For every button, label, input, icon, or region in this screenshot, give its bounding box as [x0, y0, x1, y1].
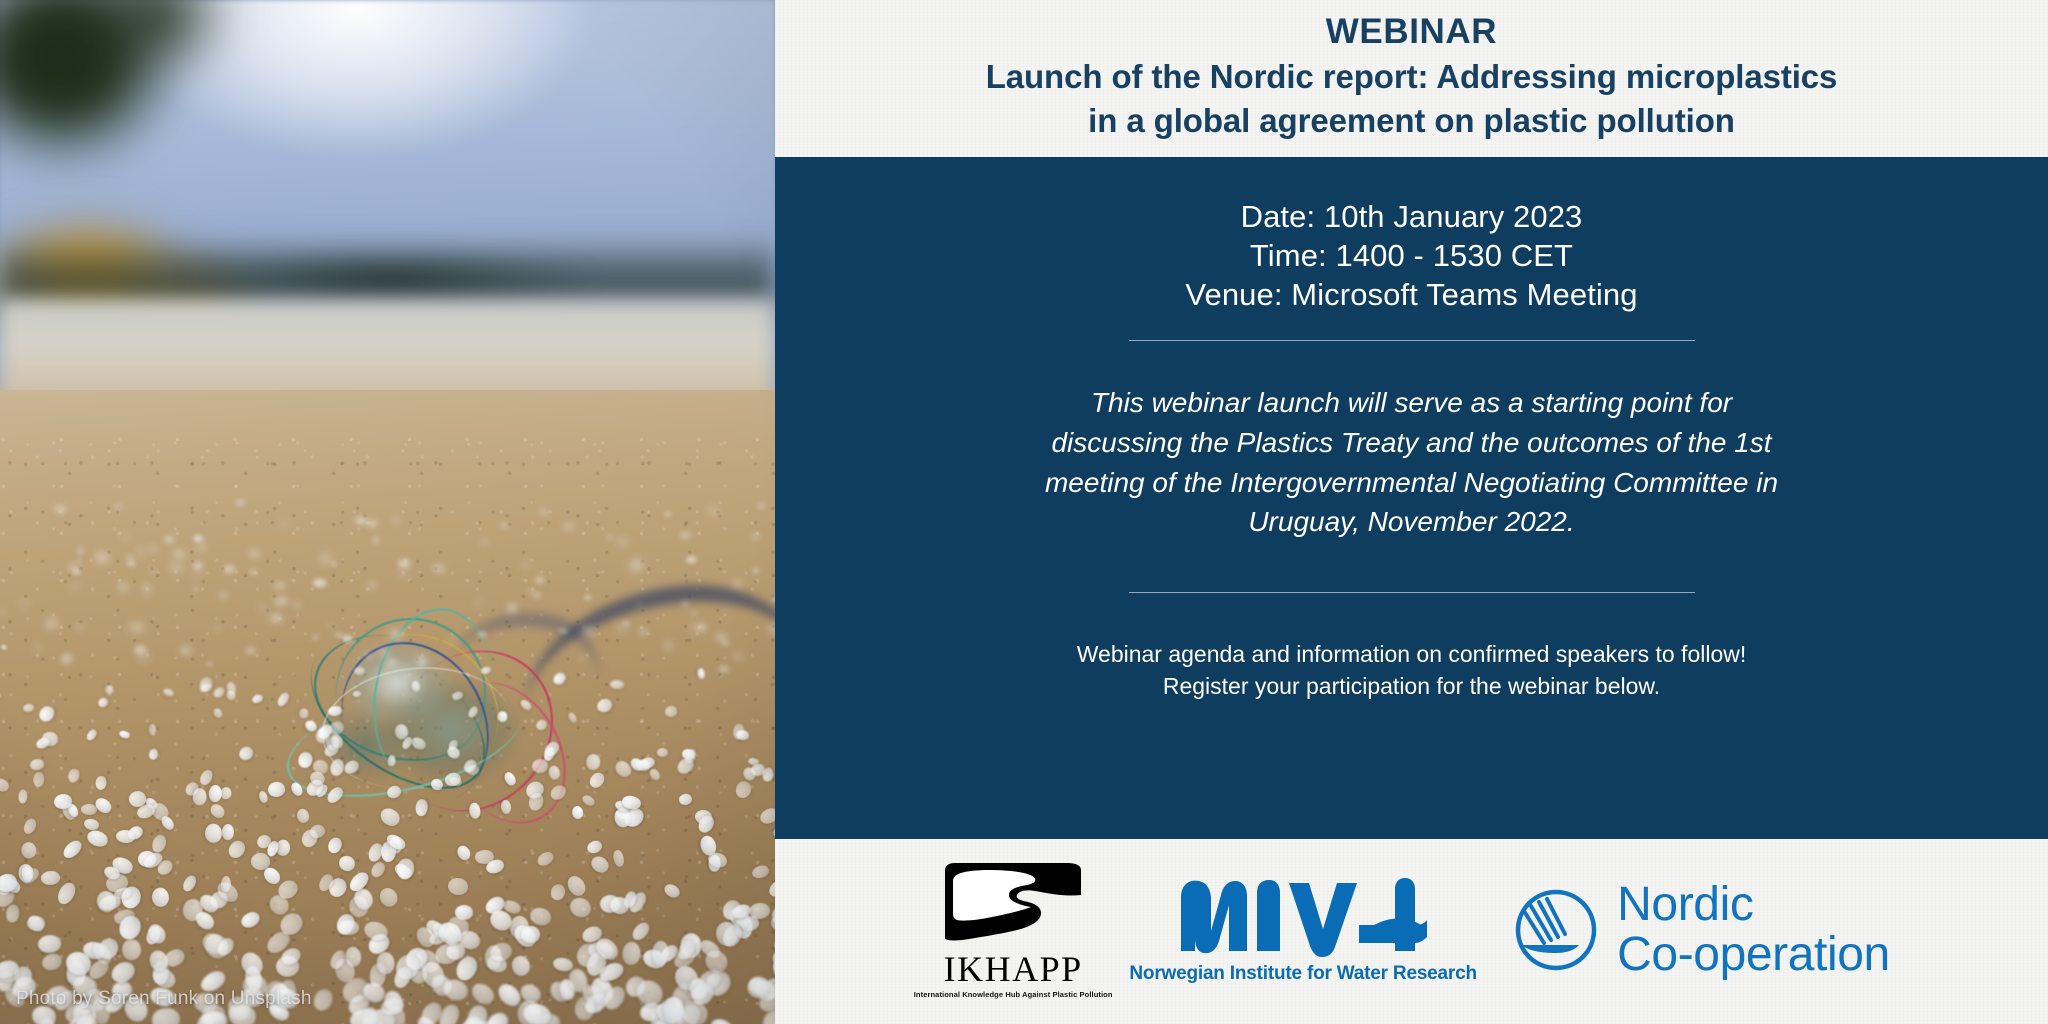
- microplastic-pellet: [326, 836, 343, 855]
- microplastic-pellet-distant: [772, 597, 775, 601]
- microplastic-pellet: [610, 680, 624, 690]
- microplastic-pellet: [451, 690, 464, 701]
- microplastic-pellet-distant: [366, 654, 372, 658]
- header-block: WEBINAR Launch of the Nordic report: Add…: [775, 0, 2048, 157]
- microplastic-pellet-distant: [769, 625, 775, 632]
- microplastic-pellet-distant: [398, 559, 412, 568]
- microplastic-pellet-distant: [617, 538, 629, 546]
- microplastic-pellet-distant: [223, 565, 237, 575]
- microplastic-pellet-distant: [76, 625, 83, 630]
- microplastic-pellet-distant: [708, 507, 721, 516]
- microplastic-pellet: [622, 942, 641, 965]
- microplastic-pellet: [33, 772, 44, 787]
- microplastic-pellet-distant: [249, 550, 261, 558]
- ikhapp-tagline: International Knowledge Hub Against Plas…: [914, 990, 1113, 999]
- microplastic-pellet: [580, 793, 596, 807]
- microplastic-pellet: [377, 805, 402, 829]
- microplastic-pellet: [120, 937, 144, 962]
- microplastic-pellet: [548, 782, 569, 802]
- microplastic-pellet-distant: [682, 602, 689, 607]
- microplastic-pellet: [469, 980, 499, 1008]
- microplastic-pellet-distant: [630, 560, 644, 570]
- microplastic-pellet: [630, 920, 652, 943]
- ikhapp-wave-mark: [939, 861, 1087, 947]
- footnote-block: Webinar agenda and information on confir…: [1077, 639, 1747, 702]
- microplastic-pellet: [207, 802, 226, 821]
- microplastic-pellet-distant: [639, 630, 647, 635]
- hero-photo: Photo by Sören Funk on Unsplash: [0, 0, 775, 1024]
- microplastic-pellet-distant: [564, 524, 573, 530]
- microplastic-pellet: [657, 747, 669, 757]
- microplastic-pellet-distant: [719, 666, 729, 673]
- microplastic-pellet: [55, 879, 78, 906]
- microplastic-pellet-distant: [450, 639, 457, 644]
- microplastic-pellet: [29, 757, 46, 771]
- microplastic-pellet: [295, 807, 312, 825]
- microplastic-pellet: [18, 790, 27, 804]
- microplastic-pellet: [534, 717, 549, 731]
- microplastic-pellet-distant: [432, 564, 446, 574]
- microplastic-pellet-distant: [55, 506, 66, 514]
- microplastic-pellet-distant: [328, 624, 335, 629]
- microplastic-pellet-distant: [21, 601, 28, 606]
- microplastic-pellet-distant: [193, 571, 200, 576]
- microplastic-pellet: [211, 685, 226, 700]
- microplastic-pellet-distant: [60, 656, 73, 665]
- microplastic-pellet: [611, 849, 625, 868]
- photo-artwork: [0, 0, 775, 1024]
- microplastic-pellet-distant: [752, 534, 761, 540]
- microplastic-pellet-distant: [150, 569, 156, 573]
- microplastic-pellet-distant: [665, 512, 671, 517]
- microplastic-pellet: [192, 787, 207, 805]
- microplastic-pellet: [751, 863, 771, 880]
- microplastic-pellet: [735, 779, 753, 799]
- microplastic-pellet-distant: [137, 652, 148, 660]
- microplastic-pellet-distant: [126, 556, 133, 561]
- microplastic-pellet: [95, 776, 106, 791]
- microplastic-pellet-distant: [733, 581, 742, 587]
- microplastic-pellet-distant: [250, 570, 257, 575]
- microplastic-pellet: [266, 780, 287, 799]
- detail-date: Date: 10th January 2023: [1185, 197, 1637, 236]
- microplastic-pellet-distant: [522, 563, 529, 568]
- photo-nurdle-field: [0, 0, 775, 1024]
- microplastic-pellet: [237, 744, 256, 763]
- microplastic-pellet: [0, 690, 2, 699]
- microplastic-pellet: [410, 679, 421, 692]
- microplastic-pellet: [708, 1015, 737, 1024]
- microplastic-pellet: [327, 704, 343, 717]
- microplastic-pellet-distant: [477, 631, 487, 638]
- microplastic-pellet: [647, 767, 661, 782]
- microplastic-pellet: [181, 873, 198, 893]
- footnote-line-1: Webinar agenda and information on confir…: [1077, 639, 1747, 671]
- microplastic-pellet: [376, 950, 397, 974]
- microplastic-pellet-distant: [372, 538, 380, 544]
- microplastic-pellet-distant: [416, 657, 428, 666]
- microplastic-pellet: [289, 780, 305, 797]
- microplastic-pellet: [567, 711, 579, 724]
- microplastic-pellet: [203, 822, 223, 844]
- microplastic-pellet-distant: [164, 536, 175, 544]
- partner-logo-strip: IKHAPP International Knowledge Hub Again…: [775, 839, 2048, 1024]
- microplastic-pellet: [441, 977, 470, 1002]
- microplastic-pellet-distant: [539, 509, 549, 516]
- microplastic-pellet: [150, 886, 171, 909]
- microplastic-pellet-distant: [127, 561, 136, 567]
- microplastic-pellet: [388, 755, 396, 767]
- microplastic-pellet: [468, 802, 482, 819]
- microplastic-pellet: [325, 784, 346, 806]
- microplastic-pellet-distant: [476, 601, 482, 605]
- microplastic-pellet: [497, 710, 509, 723]
- microplastic-pellet-distant: [180, 647, 191, 655]
- microplastic-pellet-distant: [68, 564, 80, 573]
- microplastic-pellet-distant: [274, 597, 288, 607]
- event-description: This webinar launch will serve as a star…: [1032, 383, 1792, 542]
- microplastic-pellet-distant: [312, 635, 319, 640]
- page-title-line-2: in a global agreement on plastic polluti…: [809, 100, 2014, 142]
- microplastic-pellet-distant: [171, 564, 182, 572]
- microplastic-pellet-distant: [259, 606, 266, 611]
- microplastic-pellet-distant: [121, 535, 129, 541]
- microplastic-pellet-distant: [691, 625, 701, 632]
- microplastic-pellet: [551, 670, 568, 687]
- microplastic-pellet-distant: [96, 553, 110, 562]
- microplastic-pellet: [508, 953, 532, 979]
- microplastic-pellet: [758, 805, 775, 827]
- microplastic-pellet: [568, 896, 593, 919]
- microplastic-pellet-distant: [378, 649, 390, 658]
- microplastic-pellet-distant: [313, 579, 327, 589]
- microplastic-pellet: [595, 696, 615, 715]
- microplastic-pellet: [25, 912, 47, 934]
- microplastic-pellet: [585, 753, 600, 770]
- microplastic-pellet: [549, 883, 566, 901]
- microplastic-pellet: [105, 684, 114, 695]
- webinar-announcement-poster: Photo by Sören Funk on Unsplash WEBINAR …: [0, 0, 2048, 1024]
- microplastic-pellet-distant: [293, 603, 300, 608]
- microplastic-pellet: [652, 941, 669, 966]
- microplastic-pellet-distant: [637, 604, 642, 608]
- microplastic-pellet: [443, 771, 462, 789]
- microplastic-pellet-distant: [236, 500, 245, 506]
- microplastic-pellet: [0, 644, 8, 650]
- microplastic-pellet-distant: [691, 612, 697, 616]
- microplastic-pellet-distant: [500, 523, 509, 530]
- microplastic-pellet: [85, 728, 98, 742]
- microplastic-pellet: [589, 853, 612, 874]
- microplastic-pellet: [677, 793, 692, 807]
- microplastic-pellet: [149, 724, 157, 735]
- microplastic-pellet: [40, 870, 61, 887]
- logo-niva[interactable]: Norwegian Institute for Water Research: [1153, 875, 1453, 985]
- microplastic-pellet-distant: [342, 635, 353, 643]
- microplastic-pellet-distant: [366, 520, 377, 528]
- microplastic-pellet-distant: [616, 623, 628, 632]
- microplastic-pellet: [528, 906, 552, 927]
- microplastic-pellet-distant: [270, 614, 283, 623]
- microplastic-pellet: [36, 704, 56, 724]
- microplastic-pellet-distant: [173, 550, 186, 559]
- microplastic-pellet: [465, 1003, 490, 1024]
- photo-credit: Photo by Sören Funk on Unsplash: [16, 988, 312, 1010]
- microplastic-pellet: [519, 698, 533, 711]
- microplastic-pellet-distant: [215, 627, 221, 631]
- microplastic-pellet: [221, 876, 231, 892]
- microplastic-pellet-distant: [663, 642, 674, 650]
- microplastic-pellet: [771, 826, 775, 846]
- microplastic-pellet: [535, 849, 555, 868]
- microplastic-pellet-distant: [355, 517, 366, 525]
- microplastic-pellet-distant: [331, 562, 337, 566]
- microplastic-pellet: [564, 873, 589, 899]
- microplastic-pellet: [354, 666, 366, 675]
- microplastic-pellet: [251, 693, 264, 705]
- microplastic-pellet-distant: [508, 604, 517, 610]
- microplastic-pellet: [67, 768, 82, 785]
- microplastic-pellet: [276, 691, 291, 708]
- microplastic-pellet-distant: [389, 630, 403, 640]
- microplastic-pellet: [297, 751, 312, 769]
- microplastic-pellet: [212, 706, 224, 718]
- microplastic-pellet-distant: [580, 656, 587, 661]
- microplastic-pellet: [697, 668, 706, 680]
- microplastic-pellet: [528, 792, 545, 812]
- microplastic-pellet: [480, 666, 491, 676]
- microplastic-pellet: [329, 759, 345, 778]
- microplastic-pellet: [500, 799, 512, 815]
- microplastic-pellet-distant: [142, 584, 152, 591]
- page-title-line-1: Launch of the Nordic report: Addressing …: [809, 56, 2014, 98]
- microplastic-pellet: [209, 785, 222, 802]
- microplastic-pellet: [37, 933, 63, 954]
- microplastic-pellet-distant: [752, 568, 760, 574]
- microplastic-pellet-distant: [0, 610, 5, 615]
- microplastic-pellet: [502, 770, 518, 788]
- microplastic-pellet: [22, 703, 34, 712]
- microplastic-pellet: [0, 777, 11, 794]
- nordic-swan-circle-mark: [1513, 887, 1599, 973]
- microplastic-pellet: [552, 957, 573, 972]
- microplastic-pellet: [276, 840, 291, 857]
- logo-ikhapp[interactable]: IKHAPP International Knowledge Hub Again…: [933, 861, 1093, 999]
- microplastic-pellet-distant: [535, 577, 545, 584]
- microplastic-pellet-distant: [77, 549, 84, 554]
- microplastic-pellet: [588, 771, 607, 791]
- detail-venue: Venue: Microsoft Teams Meeting: [1185, 275, 1637, 314]
- microplastic-pellet: [162, 687, 175, 697]
- nordic-wordmark-line-2: Co-operation: [1617, 930, 1890, 980]
- microplastic-pellet: [22, 817, 38, 836]
- microplastic-pellet: [429, 777, 444, 791]
- microplastic-pellet-distant: [686, 556, 697, 563]
- microplastic-pellet: [85, 828, 109, 848]
- microplastic-pellet: [118, 730, 130, 740]
- microplastic-pellet: [353, 691, 362, 698]
- nordic-wordmark: Nordic Co-operation: [1617, 880, 1890, 980]
- microplastic-pellet-distant: [218, 592, 229, 600]
- niva-wave-mark: [1177, 875, 1429, 959]
- microplastic-pellet-distant: [392, 518, 400, 523]
- logo-nordic-co-operation[interactable]: Nordic Co-operation: [1513, 880, 1890, 980]
- microplastic-pellet-distant: [130, 623, 144, 633]
- divider-top: [1129, 340, 1695, 341]
- microplastic-pellet: [585, 837, 604, 855]
- microplastic-pellet: [201, 1011, 227, 1024]
- microplastic-pellet-distant: [118, 584, 128, 591]
- microplastic-pellet-distant: [399, 571, 408, 577]
- microplastic-pellet-distant: [206, 662, 213, 667]
- ikhapp-wordmark: IKHAPP: [944, 951, 1083, 987]
- microplastic-pellet: [664, 704, 679, 718]
- microplastic-pellet: [448, 877, 468, 894]
- microplastic-pellet-distant: [114, 504, 123, 510]
- microplastic-pellet: [116, 830, 136, 843]
- event-type-kicker: WEBINAR: [809, 11, 2014, 54]
- detail-time: Time: 1400 - 1530 CET: [1185, 236, 1637, 275]
- microplastic-pellet-distant: [386, 659, 398, 667]
- microplastic-pellet: [547, 764, 562, 781]
- footnote-line-2: Register your participation for the webi…: [1077, 671, 1747, 703]
- microplastic-pellet: [222, 824, 235, 840]
- microplastic-pellet-distant: [136, 549, 146, 556]
- microplastic-pellet: [40, 951, 65, 974]
- microplastic-pellet-distant: [143, 590, 151, 596]
- microplastic-pellet: [61, 837, 85, 861]
- nordic-wordmark-line-1: Nordic: [1617, 880, 1890, 930]
- microplastic-pellet-distant: [533, 593, 541, 598]
- microplastic-pellet: [338, 854, 357, 872]
- microplastic-pellet-distant: [320, 562, 325, 566]
- content-pane: WEBINAR Launch of the Nordic report: Add…: [775, 0, 2048, 1024]
- microplastic-pellet: [396, 858, 414, 880]
- microplastic-pellet-distant: [148, 546, 158, 553]
- microplastic-pellet: [376, 884, 402, 910]
- microplastic-pellet-distant: [367, 582, 377, 589]
- microplastic-pellet: [385, 784, 403, 801]
- microplastic-pellet: [198, 768, 215, 787]
- microplastic-pellet: [342, 757, 361, 776]
- microplastic-pellet-distant: [481, 540, 488, 545]
- microplastic-pellet: [226, 838, 248, 861]
- microplastic-pellet: [610, 897, 629, 914]
- microplastic-pellet-distant: [193, 587, 199, 592]
- details-panel: Date: 10th January 2023 Time: 1400 - 153…: [775, 157, 2048, 839]
- microplastic-pellet-distant: [71, 585, 78, 590]
- microplastic-pellet-distant: [632, 570, 638, 574]
- microplastic-pellet: [6, 904, 21, 923]
- microplastic-pellet-distant: [34, 646, 42, 651]
- microplastic-pellet-distant: [559, 628, 568, 635]
- microplastic-pellet-distant: [46, 620, 58, 628]
- microplastic-pellet: [662, 882, 682, 900]
- microplastic-pellet: [239, 909, 262, 931]
- microplastic-pellet: [467, 705, 479, 719]
- microplastic-pellet: [83, 818, 99, 831]
- microplastic-pellet: [19, 840, 39, 861]
- microplastic-pellet: [150, 832, 168, 854]
- microplastic-pellet: [220, 787, 231, 800]
- microplastic-pellet: [415, 799, 427, 816]
- microplastic-pellet-distant: [716, 634, 727, 642]
- microplastic-pellet-distant: [733, 653, 743, 660]
- microplastic-pellet-distant: [280, 522, 287, 527]
- niva-tagline: Norwegian Institute for Water Research: [1129, 963, 1477, 985]
- microplastic-pellet: [311, 986, 335, 1013]
- microplastic-pellet-distant: [77, 559, 82, 563]
- microplastic-pellet-distant: [606, 535, 613, 540]
- microplastic-pellet: [337, 919, 359, 935]
- microplastic-pellet-distant: [275, 582, 285, 589]
- microplastic-pellet: [299, 708, 309, 719]
- microplastic-pellet-distant: [196, 544, 206, 551]
- microplastic-pellet-distant: [193, 535, 204, 543]
- microplastic-pellet-distant: [679, 531, 692, 540]
- event-details-list: Date: 10th January 2023 Time: 1400 - 153…: [1185, 197, 1637, 314]
- microplastic-pellet: [571, 805, 585, 821]
- microplastic-pellet-distant: [194, 563, 203, 570]
- microplastic-pellet: [369, 860, 387, 879]
- microplastic-pellet: [96, 695, 109, 708]
- microplastic-pellet-distant: [582, 626, 596, 636]
- microplastic-pellet-distant: [245, 647, 257, 655]
- divider-bottom: [1129, 592, 1695, 593]
- microplastic-pellet: [148, 749, 158, 760]
- microplastic-pellet: [766, 876, 775, 900]
- microplastic-pellet-distant: [584, 595, 592, 601]
- microplastic-pellet: [454, 843, 473, 863]
- microplastic-pellet-distant: [757, 503, 766, 509]
